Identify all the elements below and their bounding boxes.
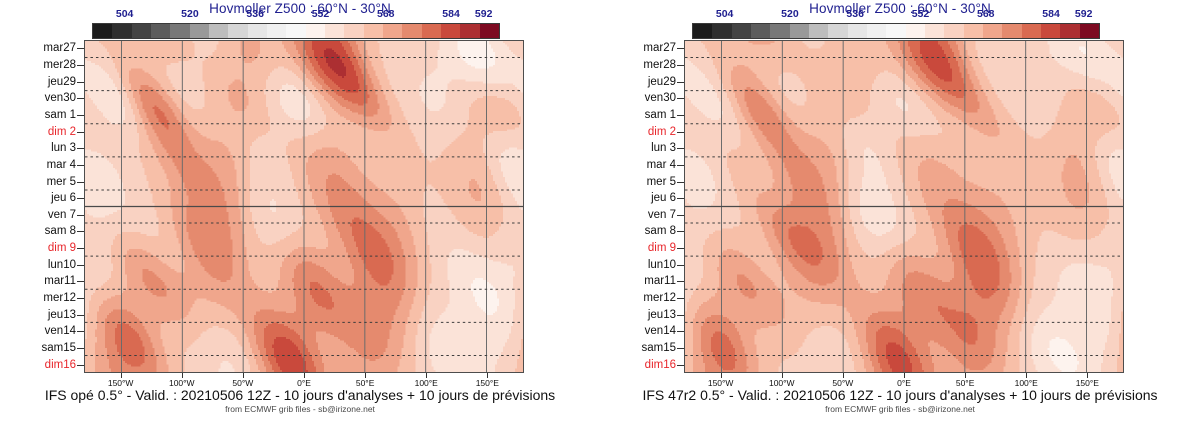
date-label-ven14: ven14	[45, 325, 76, 337]
colorbar-swatches-left	[92, 23, 500, 39]
colorbar-tick-568: 568	[377, 8, 395, 20]
date-label-mer28: mer28	[643, 59, 676, 71]
date-tick-9	[77, 198, 84, 199]
credit-left: from ECMWF grib files - sb@irizone.net	[0, 404, 600, 414]
colorbar-tick-552: 552	[912, 8, 930, 20]
date-label-jeu29: jeu29	[48, 76, 76, 88]
longitude-tick-1	[182, 373, 183, 378]
contour-field-right	[685, 41, 1123, 372]
date-label-mar4: mar 4	[647, 159, 676, 171]
date-tick-12	[677, 248, 684, 249]
date-tick-17	[77, 331, 84, 332]
date-label-sam1: sam 1	[45, 109, 76, 121]
date-tick-1	[77, 65, 84, 66]
longitude-tick-6	[487, 373, 488, 378]
colorbar-swatch-9	[867, 24, 886, 38]
caption-right: IFS 47r2 0.5° - Valid. : 20210506 12Z - …	[600, 387, 1200, 403]
date-tick-5	[77, 132, 84, 133]
colorbar-swatch-1	[712, 24, 731, 38]
date-label-sam15: sam15	[641, 342, 676, 354]
colorbar-swatch-1	[112, 24, 131, 38]
colorbar-swatch-19	[460, 24, 479, 38]
colorbar-tick-520: 520	[781, 8, 799, 20]
hovmoller-plot-right[interactable]	[684, 40, 1124, 373]
colorbar-swatch-0	[693, 24, 712, 38]
colorbar-swatch-13	[344, 24, 363, 38]
date-label-lun10: lun10	[648, 259, 676, 271]
longitude-tick-0	[721, 373, 722, 378]
colorbar-swatch-12	[925, 24, 944, 38]
longitude-tick-5	[426, 373, 427, 378]
date-label-mer12: mer12	[43, 292, 76, 304]
date-tick-2	[77, 82, 84, 83]
date-tick-7	[677, 165, 684, 166]
longitude-tick-1	[782, 373, 783, 378]
date-axis-left: mar27mer28jeu29ven30sam 1dim 2lun 3mar 4…	[0, 40, 84, 373]
date-label-mar27: mar27	[43, 42, 76, 54]
date-label-sam1: sam 1	[645, 109, 676, 121]
date-label-sam15: sam15	[41, 342, 76, 354]
longitude-tick-2	[243, 373, 244, 378]
colorbar-swatch-7	[228, 24, 247, 38]
date-axis-right: mar27mer28jeu29ven30sam 1dim 2lun 3mar 4…	[600, 40, 684, 373]
date-tick-16	[677, 315, 684, 316]
colorbar-swatch-5	[790, 24, 809, 38]
colorbar-swatch-7	[828, 24, 847, 38]
colorbar-swatch-20	[480, 24, 499, 38]
date-tick-6	[77, 148, 84, 149]
date-label-dim16: dim16	[645, 359, 676, 371]
date-tick-17	[677, 331, 684, 332]
date-label-mer5: mer 5	[647, 176, 676, 188]
colorbar-swatch-10	[286, 24, 305, 38]
colorbar-swatch-4	[770, 24, 789, 38]
date-label-dim9: dim 9	[648, 242, 676, 254]
panel-left: Hovmoller Z500 : 60°N - 30°N 50452053655…	[0, 0, 600, 424]
date-tick-6	[677, 148, 684, 149]
date-label-mar11: mar11	[644, 275, 676, 287]
colorbar-swatch-6	[809, 24, 828, 38]
date-tick-3	[677, 98, 684, 99]
date-tick-13	[677, 265, 684, 266]
colorbar-swatch-8	[248, 24, 267, 38]
date-label-mer12: mer12	[643, 292, 676, 304]
date-tick-15	[77, 298, 84, 299]
colorbar-tick-592: 592	[1075, 8, 1093, 20]
longitude-tick-2	[843, 373, 844, 378]
contour-field-left	[85, 41, 523, 372]
longitude-tick-0	[121, 373, 122, 378]
date-tick-2	[677, 82, 684, 83]
date-label-dim2: dim 2	[648, 126, 676, 138]
date-tick-4	[677, 115, 684, 116]
colorbar-swatch-2	[732, 24, 751, 38]
date-label-jeu6: jeu 6	[51, 192, 76, 204]
hovmoller-comparison-page: Hovmoller Z500 : 60°N - 30°N 50452053655…	[0, 0, 1200, 424]
date-label-dim16: dim16	[45, 359, 76, 371]
colorbar-swatch-4	[170, 24, 189, 38]
date-label-mar27: mar27	[643, 42, 676, 54]
colorbar-left	[92, 23, 500, 39]
colorbar-swatch-17	[422, 24, 441, 38]
colorbar-tick-584: 584	[1042, 8, 1060, 20]
date-label-sam8: sam 8	[45, 225, 76, 237]
colorbar-tick-504: 504	[116, 8, 134, 20]
colorbar-swatch-18	[441, 24, 460, 38]
date-tick-12	[77, 248, 84, 249]
colorbar-swatch-16	[1002, 24, 1021, 38]
colorbar-tick-504: 504	[716, 8, 734, 20]
date-tick-8	[677, 182, 684, 183]
colorbar-tick-568: 568	[977, 8, 995, 20]
colorbar-tick-584: 584	[442, 8, 460, 20]
colorbar-swatch-11	[906, 24, 925, 38]
colorbar-swatch-15	[383, 24, 402, 38]
credit-right: from ECMWF grib files - sb@irizone.net	[600, 404, 1200, 414]
date-label-jeu13: jeu13	[648, 309, 676, 321]
longitude-tick-5	[1026, 373, 1027, 378]
colorbar-swatch-2	[132, 24, 151, 38]
date-tick-1	[677, 65, 684, 66]
colorbar-tick-520: 520	[181, 8, 199, 20]
panel-right: Hovmoller Z500 : 60°N - 30°N 50452053655…	[600, 0, 1200, 424]
colorbar-right	[692, 23, 1100, 39]
date-label-mar11: mar11	[44, 275, 76, 287]
colorbar-swatch-13	[944, 24, 963, 38]
date-tick-10	[677, 215, 684, 216]
longitude-tick-4	[365, 373, 366, 378]
date-label-lun10: lun10	[48, 259, 76, 271]
date-label-ven30: ven30	[645, 92, 676, 104]
colorbar-swatch-14	[964, 24, 983, 38]
hovmoller-plot-left[interactable]	[84, 40, 524, 373]
date-tick-0	[77, 48, 84, 49]
colorbar-swatch-3	[151, 24, 170, 38]
date-label-jeu6: jeu 6	[651, 192, 676, 204]
date-tick-16	[77, 315, 84, 316]
colorbar-swatch-18	[1041, 24, 1060, 38]
date-label-sam8: sam 8	[645, 225, 676, 237]
date-label-jeu13: jeu13	[48, 309, 76, 321]
colorbar-swatch-3	[751, 24, 770, 38]
date-tick-0	[677, 48, 684, 49]
date-tick-14	[77, 281, 84, 282]
date-label-mar4: mar 4	[47, 159, 76, 171]
longitude-tick-3	[904, 373, 905, 378]
colorbar-swatch-20	[1080, 24, 1099, 38]
date-label-ven14: ven14	[645, 325, 676, 337]
date-label-ven30: ven30	[45, 92, 76, 104]
date-tick-4	[77, 115, 84, 116]
colorbar-swatch-17	[1022, 24, 1041, 38]
date-label-dim2: dim 2	[48, 126, 76, 138]
colorbar-swatch-6	[209, 24, 228, 38]
date-label-mer28: mer28	[43, 59, 76, 71]
date-label-mer5: mer 5	[47, 176, 76, 188]
colorbar-tick-536: 536	[846, 8, 864, 20]
colorbar-tick-552: 552	[312, 8, 330, 20]
date-tick-5	[677, 132, 684, 133]
colorbar-swatch-12	[325, 24, 344, 38]
date-tick-11	[77, 231, 84, 232]
colorbar-swatch-0	[93, 24, 112, 38]
colorbar-ticks-left: 504520536552568584592	[92, 8, 500, 22]
colorbar-swatch-9	[267, 24, 286, 38]
colorbar-swatch-19	[1060, 24, 1079, 38]
colorbar-swatch-5	[190, 24, 209, 38]
caption-left: IFS opé 0.5° - Valid. : 20210506 12Z - 1…	[0, 387, 600, 403]
date-label-dim9: dim 9	[48, 242, 76, 254]
date-tick-15	[677, 298, 684, 299]
date-tick-9	[677, 198, 684, 199]
date-label-lun3: lun 3	[51, 142, 76, 154]
date-tick-11	[677, 231, 684, 232]
longitude-tick-4	[965, 373, 966, 378]
longitude-tick-6	[1087, 373, 1088, 378]
colorbar-swatch-16	[402, 24, 421, 38]
date-tick-18	[77, 348, 84, 349]
date-tick-7	[77, 165, 84, 166]
colorbar-swatch-15	[983, 24, 1002, 38]
date-tick-18	[677, 348, 684, 349]
colorbar-tick-592: 592	[475, 8, 493, 20]
colorbar-swatches-right	[692, 23, 1100, 39]
colorbar-tick-536: 536	[246, 8, 264, 20]
colorbar-swatch-10	[886, 24, 905, 38]
colorbar-swatch-14	[364, 24, 383, 38]
date-label-lun3: lun 3	[651, 142, 676, 154]
date-tick-19	[77, 365, 84, 366]
date-label-ven7: ven 7	[648, 209, 676, 221]
date-tick-13	[77, 265, 84, 266]
colorbar-swatch-8	[848, 24, 867, 38]
longitude-tick-3	[304, 373, 305, 378]
date-tick-8	[77, 182, 84, 183]
date-tick-14	[677, 281, 684, 282]
date-label-ven7: ven 7	[48, 209, 76, 221]
date-tick-3	[77, 98, 84, 99]
date-tick-10	[77, 215, 84, 216]
date-label-jeu29: jeu29	[648, 76, 676, 88]
colorbar-ticks-right: 504520536552568584592	[692, 8, 1100, 22]
colorbar-swatch-11	[306, 24, 325, 38]
date-tick-19	[677, 365, 684, 366]
